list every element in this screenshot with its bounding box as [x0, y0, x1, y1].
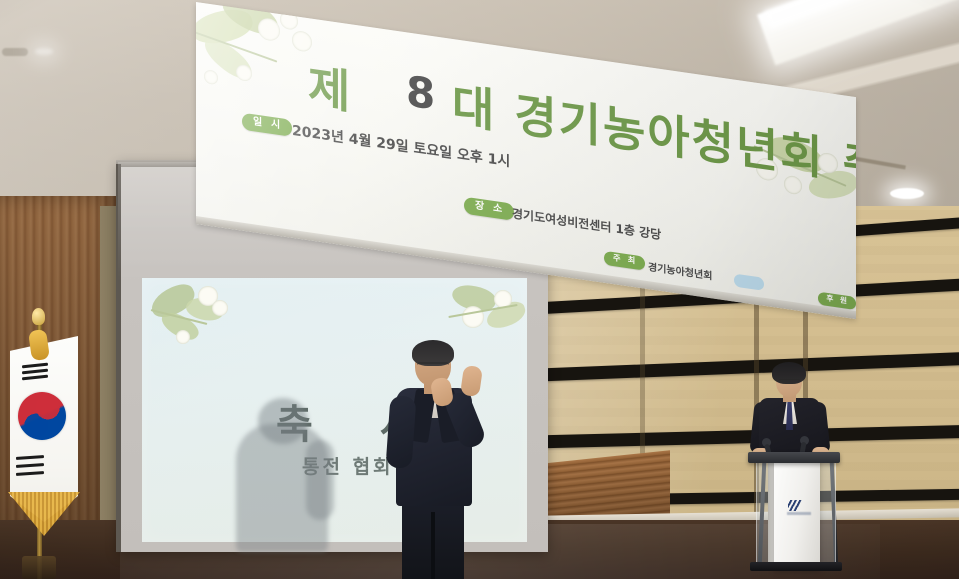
flag-stand — [22, 556, 56, 579]
ceiling-vent — [2, 48, 28, 56]
podium-base — [750, 562, 842, 571]
slide-flower-icon — [212, 300, 228, 316]
flag-finial-icon — [32, 308, 45, 325]
podium-top — [748, 452, 840, 463]
glasses-icon — [417, 362, 449, 371]
downlight-icon — [890, 188, 924, 199]
glasses-icon — [778, 379, 801, 386]
podium-logo-icon — [788, 500, 810, 511]
downlight-icon-secondary — [35, 48, 53, 55]
interpreter-leg-split — [431, 512, 435, 579]
podium-logo-subtext — [787, 512, 811, 515]
taeguk-swirl-icon — [18, 392, 66, 440]
presenter-shadow-head — [258, 398, 308, 444]
presenter-shadow-arm — [306, 440, 334, 520]
ceremony-photo-scene: 축 사 통전 협회장 제 8 대 경기농아청년회 취임식 일 — [0, 0, 959, 579]
interpreter-arm-left — [386, 395, 417, 469]
slide-flower-icon — [176, 330, 190, 344]
